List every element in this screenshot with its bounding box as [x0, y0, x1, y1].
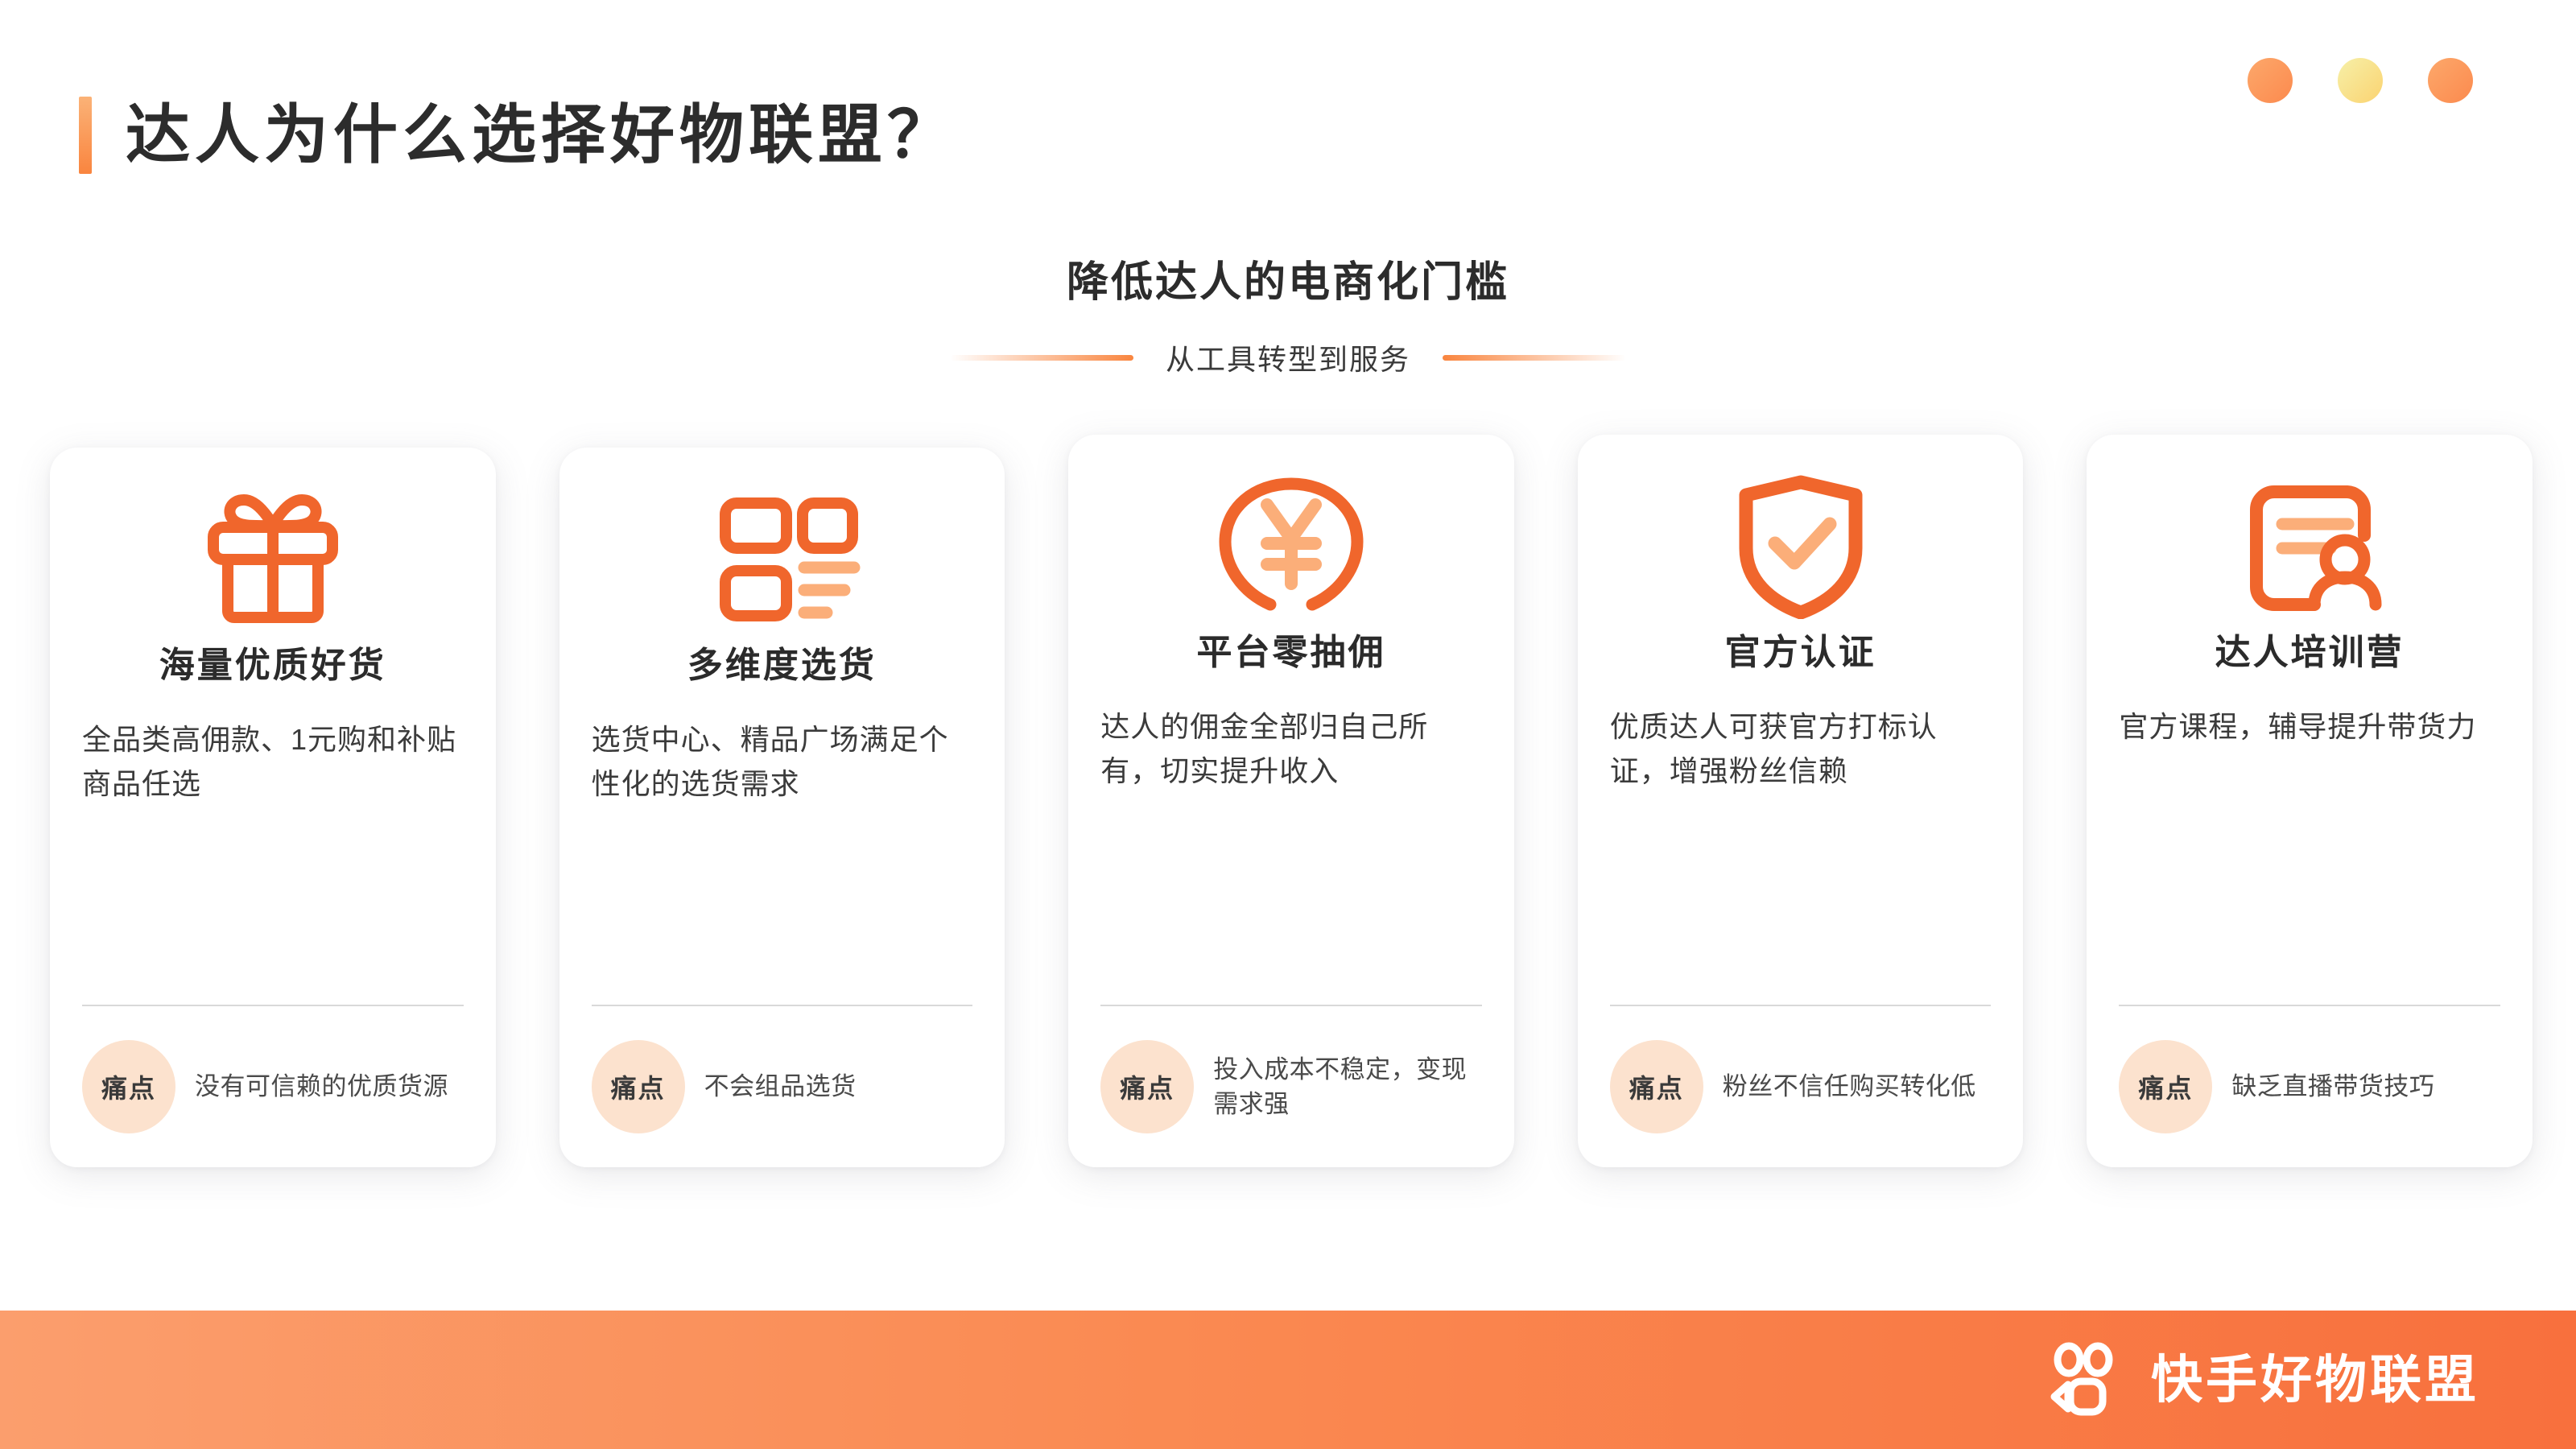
footer-brand-text: 快手好物联盟 [2151, 1354, 2479, 1406]
pain-point-text: 不会组品选货 [704, 1069, 857, 1104]
certificate-person-icon [2119, 472, 2500, 621]
pain-point-row: 痛点 不会组品选货 [592, 1040, 973, 1133]
divider [2119, 1005, 2500, 1006]
rule-left-icon [950, 355, 1133, 361]
feature-card[interactable]: 官方认证 优质达人可获官方打标认证，增强粉丝信赖 痛点 粉丝不信任购买转化低 [1578, 435, 2024, 1167]
feature-card[interactable]: 多维度选货 选货中心、精品广场满足个性化的选货需求 痛点 不会组品选货 [559, 448, 1005, 1167]
subheader-main-text: 降低达人的电商化门槛 [0, 258, 2576, 308]
pain-point-row: 痛点 缺乏直播带货技巧 [2119, 1040, 2500, 1133]
feature-card[interactable]: 海量优质好货 全品类高佣款、1元购和补贴商品任选 痛点 没有可信赖的优质货源 [50, 448, 496, 1167]
feature-card[interactable]: 平台零抽佣 达人的佣金全部归自己所有，切实提升收入 痛点 投入成本不稳定，变现需… [1068, 435, 1514, 1167]
divider [1100, 1005, 1482, 1006]
feature-card-description: 全品类高佣款、1元购和补贴商品任选 [82, 717, 464, 807]
decorative-dots [2248, 58, 2473, 103]
pain-point-badge: 痛点 [2119, 1040, 2212, 1133]
grid-list-icon [592, 485, 973, 634]
pain-point-text: 粉丝不信任购买转化低 [1723, 1069, 1976, 1104]
pain-point-row: 痛点 粉丝不信任购买转化低 [1610, 1040, 1992, 1133]
subheader-sub-text: 从工具转型到服务 [1166, 336, 1410, 378]
divider [82, 1005, 464, 1006]
feature-card-footer: 痛点 粉丝不信任购买转化低 [1610, 1005, 1992, 1167]
feature-card-title: 海量优质好货 [82, 646, 464, 687]
pain-point-badge: 痛点 [1610, 1040, 1703, 1133]
feature-card-title: 多维度选货 [592, 646, 973, 687]
page-title-text: 达人为什么选择好物联盟？ [126, 103, 956, 167]
pain-point-badge: 痛点 [592, 1040, 685, 1133]
feature-card-footer: 痛点 不会组品选货 [592, 1005, 973, 1167]
feature-card-description: 达人的佣金全部归自己所有，切实提升收入 [1100, 704, 1482, 795]
divider [1610, 1005, 1992, 1006]
rule-right-icon [1443, 355, 1626, 361]
feature-card[interactable]: 达人培训营 官方课程，辅导提升带货力 痛点 缺乏直播带货技巧 [2087, 435, 2533, 1167]
dot-orange-1-icon [2248, 58, 2293, 103]
feature-card-title: 官方认证 [1610, 633, 1992, 674]
feature-card-footer: 痛点 投入成本不稳定，变现需求强 [1100, 1005, 1482, 1167]
slide-root: 达人为什么选择好物联盟？ 降低达人的电商化门槛 从工具转型到服务 [0, 0, 2576, 1449]
feature-card-footer: 痛点 缺乏直播带货技巧 [2119, 1005, 2500, 1167]
pain-point-text: 投入成本不稳定，变现需求强 [1213, 1052, 1482, 1122]
dot-yellow-icon [2338, 58, 2383, 103]
pain-point-text: 没有可信赖的优质货源 [195, 1069, 448, 1104]
yen-circle-icon [1100, 472, 1482, 621]
subheader: 降低达人的电商化门槛 从工具转型到服务 [0, 258, 2576, 378]
footer-bar: 快手好物联盟 [0, 1311, 2576, 1449]
title-accent-bar-icon [79, 97, 92, 174]
feature-card-list: 海量优质好货 全品类高佣款、1元购和补贴商品任选 痛点 没有可信赖的优质货源 [50, 435, 2533, 1167]
pain-point-badge: 痛点 [82, 1040, 175, 1133]
feature-card-description: 优质达人可获官方打标认证，增强粉丝信赖 [1610, 704, 1992, 795]
pain-point-row: 痛点 投入成本不稳定，变现需求强 [1100, 1040, 1482, 1133]
shield-check-icon [1610, 472, 1992, 621]
pain-point-text: 缺乏直播带货技巧 [2231, 1069, 2434, 1104]
feature-card-title: 平台零抽佣 [1100, 633, 1482, 674]
subheader-sub-row: 从工具转型到服务 [0, 336, 2576, 378]
feature-card-footer: 痛点 没有可信赖的优质货源 [82, 1005, 464, 1167]
feature-card-description: 选货中心、精品广场满足个性化的选货需求 [592, 717, 973, 807]
pain-point-badge: 痛点 [1100, 1040, 1194, 1133]
kuaishou-logo-icon [2046, 1340, 2124, 1421]
pain-point-row: 痛点 没有可信赖的优质货源 [82, 1040, 464, 1133]
gift-icon [82, 485, 464, 634]
divider [592, 1005, 973, 1006]
page-title: 达人为什么选择好物联盟？ [79, 97, 956, 174]
feature-card-description: 官方课程，辅导提升带货力 [2119, 704, 2500, 749]
feature-card-title: 达人培训营 [2119, 633, 2500, 674]
dot-orange-2-icon [2428, 58, 2473, 103]
